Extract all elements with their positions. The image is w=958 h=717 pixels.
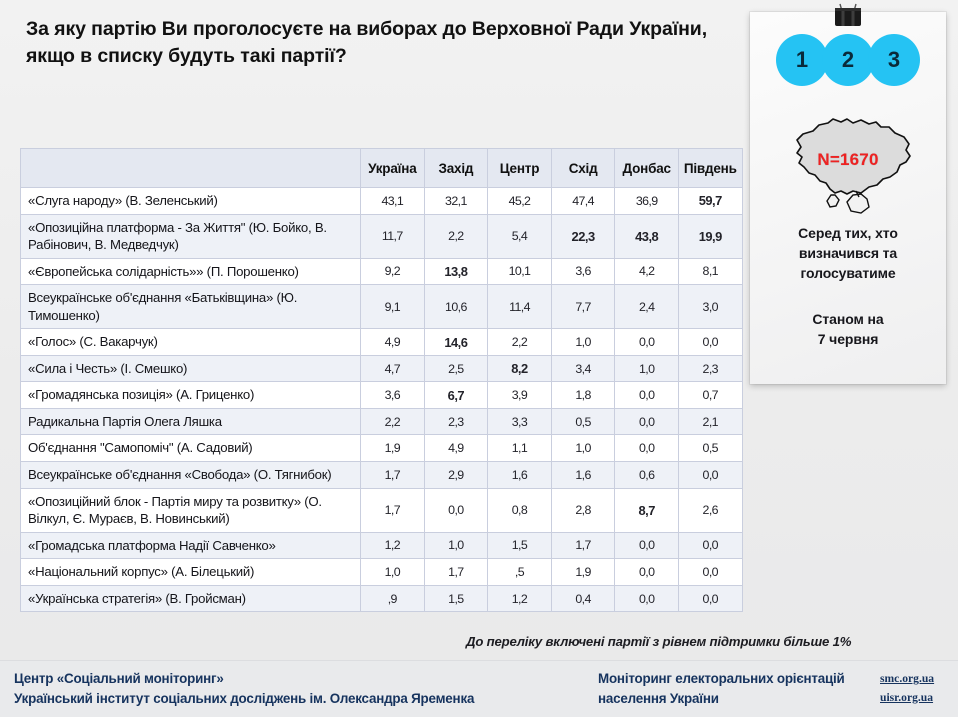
value-cell: 1,5 <box>424 585 488 612</box>
info-panel: 1 2 3 N=1670 Серед тих, хто визначився т… <box>750 12 946 384</box>
value-cell: 2,1 <box>678 408 742 435</box>
slide-canvas: За яку партію Ви проголосуєте на виборах… <box>0 0 958 717</box>
value-cell: 2,2 <box>361 408 425 435</box>
step-circle-3[interactable]: 3 <box>868 34 920 86</box>
footer-project-line1: Моніторинг електоральних орієнтацій <box>598 669 845 689</box>
table-body: «Слуга народу» (В. Зеленський)43,132,145… <box>21 188 743 612</box>
value-cell: 0,0 <box>615 559 679 586</box>
table-row: «Громадська платформа Надії Савченко»1,2… <box>21 532 743 559</box>
value-cell: 2,9 <box>424 462 488 489</box>
value-cell: 1,1 <box>488 435 552 462</box>
footer-project: Моніторинг електоральних орієнтацій насе… <box>598 669 845 709</box>
value-cell: 8,2 <box>488 355 552 382</box>
table-row: Об'єднання "Самопоміч" (А. Садовий)1,94,… <box>21 435 743 462</box>
party-name-cell: «Громадянська позиція» (А. Гриценко) <box>21 382 361 409</box>
value-cell: ,5 <box>488 559 552 586</box>
value-cell: 5,4 <box>488 214 552 258</box>
table-row: Всеукраїнське об'єднання «Свобода» (О. Т… <box>21 462 743 489</box>
value-cell: 0,0 <box>615 435 679 462</box>
value-cell: 10,1 <box>488 258 552 285</box>
value-cell: 43,1 <box>361 188 425 215</box>
table-row: «Громадянська позиція» (А. Гриценко)3,66… <box>21 382 743 409</box>
value-cell: 2,5 <box>424 355 488 382</box>
footnote: До переліку включені партії з рівнем під… <box>466 634 851 649</box>
value-cell: 4,9 <box>361 329 425 356</box>
value-cell: 1,9 <box>551 559 615 586</box>
value-cell: 1,8 <box>551 382 615 409</box>
value-cell: 1,2 <box>488 585 552 612</box>
value-cell: 0,5 <box>678 435 742 462</box>
table-row: «Національний корпус» (А. Білецький)1,01… <box>21 559 743 586</box>
party-name-cell: Об'єднання "Самопоміч" (А. Садовий) <box>21 435 361 462</box>
poll-table-container: Україна Захід Центр Схід Донбас Південь … <box>20 148 742 612</box>
value-cell: 45,2 <box>488 188 552 215</box>
table-row: «Опозиційний блок - Партія миру та розви… <box>21 488 743 532</box>
step-circles: 1 2 3 <box>750 34 946 86</box>
party-name-cell: Радикальна Партія Олега Ляшка <box>21 408 361 435</box>
footer-org-line1: Центр «Соціальний моніторинг» <box>14 669 474 689</box>
table-row: «Європейська солідарність»» (П. Порошенк… <box>21 258 743 285</box>
footer-organization: Центр «Соціальний моніторинг» Українськи… <box>14 669 474 709</box>
table-header: Україна Захід Центр Схід Донбас Південь <box>21 149 743 188</box>
column-header-east: Схід <box>551 149 615 188</box>
value-cell: 36,9 <box>615 188 679 215</box>
party-name-cell: «Сила і Честь» (І. Смешко) <box>21 355 361 382</box>
value-cell: 8,1 <box>678 258 742 285</box>
footer-bar: Центр «Соціальний моніторинг» Українськи… <box>0 660 958 717</box>
value-cell: 2,3 <box>424 408 488 435</box>
page-title: За яку партію Ви проголосуєте на виборах… <box>26 16 716 70</box>
value-cell: 19,9 <box>678 214 742 258</box>
step-circle-1[interactable]: 1 <box>776 34 828 86</box>
value-cell: 1,5 <box>488 532 552 559</box>
value-cell: 0,6 <box>615 462 679 489</box>
link-uisr[interactable]: uisr.org.ua <box>880 689 934 708</box>
value-cell: 0,0 <box>678 329 742 356</box>
party-name-cell: «Опозиційний блок - Партія миру та розви… <box>21 488 361 532</box>
value-cell: 1,9 <box>361 435 425 462</box>
value-cell: 0,0 <box>678 585 742 612</box>
party-name-cell: Всеукраїнське об'єднання «Свобода» (О. Т… <box>21 462 361 489</box>
value-cell: 0,0 <box>424 488 488 532</box>
header-row: Україна Захід Центр Схід Донбас Південь <box>21 149 743 188</box>
column-header-south: Південь <box>678 149 742 188</box>
column-header-west: Захід <box>424 149 488 188</box>
value-cell: 3,6 <box>361 382 425 409</box>
value-cell: 0,0 <box>678 462 742 489</box>
value-cell: 0,5 <box>551 408 615 435</box>
value-cell: 1,0 <box>424 532 488 559</box>
party-name-cell: «Громадська платформа Надії Савченко» <box>21 532 361 559</box>
value-cell: 1,6 <box>551 462 615 489</box>
value-cell: 2,2 <box>488 329 552 356</box>
value-cell: 1,7 <box>361 462 425 489</box>
value-cell: 22,3 <box>551 214 615 258</box>
party-name-cell: «Національний корпус» (А. Білецький) <box>21 559 361 586</box>
value-cell: 14,6 <box>424 329 488 356</box>
party-name-cell: «Опозиційна платформа - За Життя" (Ю. Бо… <box>21 214 361 258</box>
value-cell: 3,3 <box>488 408 552 435</box>
panel-date-line1: Станом на <box>758 310 938 330</box>
sample-size-label: N=1670 <box>750 150 946 170</box>
value-cell: 1,0 <box>551 435 615 462</box>
value-cell: 10,6 <box>424 285 488 329</box>
value-cell: 2,6 <box>678 488 742 532</box>
value-cell: 0,0 <box>615 329 679 356</box>
value-cell: 1,7 <box>424 559 488 586</box>
binder-clip-icon <box>826 2 870 28</box>
value-cell: 7,7 <box>551 285 615 329</box>
party-name-cell: Всеукраїнське об'єднання «Батьківщина» (… <box>21 285 361 329</box>
value-cell: 3,0 <box>678 285 742 329</box>
value-cell: 13,8 <box>424 258 488 285</box>
value-cell: 1,6 <box>488 462 552 489</box>
value-cell: 1,0 <box>551 329 615 356</box>
column-header-donbas: Донбас <box>615 149 679 188</box>
value-cell: 0,8 <box>488 488 552 532</box>
value-cell: 2,3 <box>678 355 742 382</box>
value-cell: 9,2 <box>361 258 425 285</box>
value-cell: ,9 <box>361 585 425 612</box>
value-cell: 3,4 <box>551 355 615 382</box>
party-name-cell: «Українська стратегія» (В. Гройсман) <box>21 585 361 612</box>
table-row: «Опозиційна платформа - За Життя" (Ю. Бо… <box>21 214 743 258</box>
value-cell: 0,4 <box>551 585 615 612</box>
value-cell: 1,0 <box>361 559 425 586</box>
column-header-party <box>21 149 361 188</box>
value-cell: 43,8 <box>615 214 679 258</box>
value-cell: 1,7 <box>551 532 615 559</box>
value-cell: 1,0 <box>615 355 679 382</box>
panel-caption-determined: Серед тих, хто визначився та голосуватим… <box>758 224 938 284</box>
value-cell: 32,1 <box>424 188 488 215</box>
table-row: «Українська стратегія» (В. Гройсман),91,… <box>21 585 743 612</box>
column-header-center: Центр <box>488 149 552 188</box>
value-cell: 0,0 <box>615 408 679 435</box>
value-cell: 0,0 <box>678 532 742 559</box>
value-cell: 4,7 <box>361 355 425 382</box>
value-cell: 2,4 <box>615 285 679 329</box>
value-cell: 0,0 <box>678 559 742 586</box>
party-name-cell: «Слуга народу» (В. Зеленський) <box>21 188 361 215</box>
table-row: «Слуга народу» (В. Зеленський)43,132,145… <box>21 188 743 215</box>
value-cell: 1,7 <box>361 488 425 532</box>
party-name-cell: «Європейська солідарність»» (П. Порошенк… <box>21 258 361 285</box>
table-row: Радикальна Партія Олега Ляшка2,22,33,30,… <box>21 408 743 435</box>
value-cell: 3,6 <box>551 258 615 285</box>
value-cell: 4,9 <box>424 435 488 462</box>
table-row: «Голос» (С. Вакарчук)4,914,62,21,00,00,0 <box>21 329 743 356</box>
value-cell: 4,2 <box>615 258 679 285</box>
value-cell: 0,0 <box>615 585 679 612</box>
value-cell: 0,7 <box>678 382 742 409</box>
table-row: Всеукраїнське об'єднання «Батьківщина» (… <box>21 285 743 329</box>
value-cell: 3,9 <box>488 382 552 409</box>
footer-org-line2: Український інститут соціальних дослідже… <box>14 689 474 709</box>
footer-links: smc.org.ua uisr.org.ua <box>880 670 934 708</box>
value-cell: 0,0 <box>615 532 679 559</box>
value-cell: 11,7 <box>361 214 425 258</box>
value-cell: 59,7 <box>678 188 742 215</box>
column-header-ukraine: Україна <box>361 149 425 188</box>
link-smc[interactable]: smc.org.ua <box>880 670 934 689</box>
value-cell: 2,8 <box>551 488 615 532</box>
panel-caption-date: Станом на 7 червня <box>758 310 938 350</box>
value-cell: 8,7 <box>615 488 679 532</box>
value-cell: 9,1 <box>361 285 425 329</box>
value-cell: 11,4 <box>488 285 552 329</box>
party-name-cell: «Голос» (С. Вакарчук) <box>21 329 361 356</box>
value-cell: 1,2 <box>361 532 425 559</box>
value-cell: 0,0 <box>615 382 679 409</box>
table-row: «Сила і Честь» (І. Смешко)4,72,58,23,41,… <box>21 355 743 382</box>
value-cell: 6,7 <box>424 382 488 409</box>
value-cell: 47,4 <box>551 188 615 215</box>
value-cell: 2,2 <box>424 214 488 258</box>
poll-table: Україна Захід Центр Схід Донбас Південь … <box>20 148 743 612</box>
step-circle-2[interactable]: 2 <box>822 34 874 86</box>
footer-project-line2: населення України <box>598 689 845 709</box>
panel-date-line2: 7 червня <box>758 330 938 350</box>
